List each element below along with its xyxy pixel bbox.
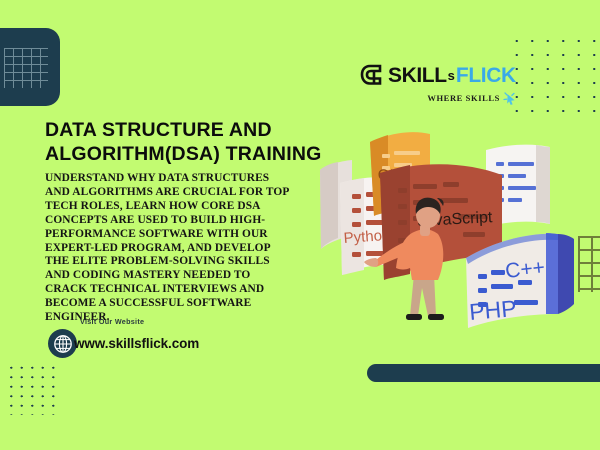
logo-tagline-row: WHERE SKILLS (358, 91, 518, 105)
panel-label-php: PHP (468, 295, 517, 325)
globe-icon (48, 329, 77, 358)
developer-with-code-panels-illustration: Python C# (318, 128, 600, 333)
website-url-text: www.skillsflick.com (74, 336, 199, 351)
logo-wordmark-row: SKILL s FLICK (358, 60, 518, 90)
poster-canvas: SKILL s FLICK WHERE SKILLS DATA STRUCTUR… (0, 0, 600, 450)
page-title: DATA STRUCTURE AND ALGORITHM(DSA) TRAINI… (45, 118, 345, 167)
cursor-click-icon (503, 91, 516, 105)
panel-label-cpp: C++ (504, 256, 546, 283)
logo-text-flick: FLICK (456, 65, 516, 86)
navy-pill-bar-decoration (367, 364, 600, 382)
dot-grid-bottom-left (6, 363, 62, 415)
grid-pattern-icon (4, 48, 48, 88)
logo-text-s: s (447, 69, 456, 82)
visit-website-label: Visit Our Website (80, 317, 144, 326)
brand-logo[interactable]: SKILL s FLICK WHERE SKILLS (358, 60, 518, 108)
navy-rounded-card-decoration (0, 28, 60, 106)
logo-tagline: WHERE SKILLS (427, 93, 500, 103)
dot-grid-top-right (509, 34, 600, 116)
s-flick-monogram-icon (358, 60, 388, 90)
body-paragraph: UNDERSTAND WHY DATA STRUCTURES AND ALGOR… (45, 172, 295, 325)
website-link[interactable]: www.skillsflick.com (48, 329, 199, 358)
logo-text-skill: SKILL (388, 65, 447, 86)
